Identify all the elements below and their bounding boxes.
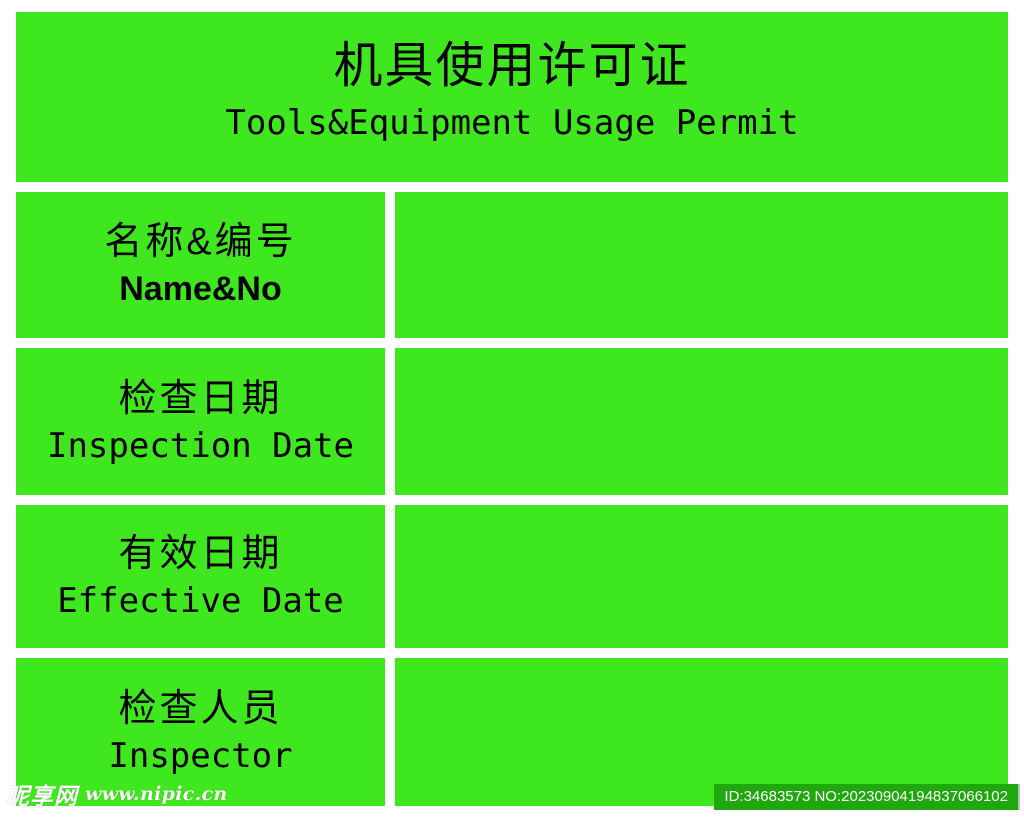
table-row: 名称&编号 Name&No	[16, 192, 1008, 338]
field-value-effective-date[interactable]	[395, 505, 1008, 648]
field-label-chinese: 有效日期	[118, 531, 282, 577]
watermark: 昵享网 www.nipic.cn	[6, 777, 227, 811]
page-title-english: Tools&Equipment Usage Permit	[225, 100, 798, 146]
field-label-chinese: 检查人员	[118, 686, 282, 732]
watermark-logo-text: 昵享网	[6, 777, 78, 811]
permit-card-page: 机具使用许可证 Tools&Equipment Usage Permit 名称&…	[0, 0, 1024, 819]
field-label-chinese: 名称&编号	[104, 219, 296, 265]
id-badge: ID:34683573 NO:20230904194837066102	[714, 784, 1020, 810]
field-label-inspection-date: 检查日期 Inspection Date	[16, 348, 385, 495]
permit-header-banner: 机具使用许可证 Tools&Equipment Usage Permit	[16, 12, 1008, 182]
field-label-english: Inspection Date	[47, 424, 354, 468]
field-label-effective-date: 有效日期 Effective Date	[16, 505, 385, 648]
table-row: 有效日期 Effective Date	[16, 505, 1008, 648]
field-label-english: Effective Date	[57, 579, 344, 623]
table-row: 检查日期 Inspection Date	[16, 348, 1008, 495]
field-label-english: Name&No	[119, 267, 281, 311]
field-label-english: Inspector	[108, 734, 292, 778]
field-value-inspection-date[interactable]	[395, 348, 1008, 495]
watermark-url-text: www.nipic.cn	[85, 783, 227, 805]
field-label-chinese: 检查日期	[118, 376, 282, 422]
field-value-name-no[interactable]	[395, 192, 1008, 338]
page-title-chinese: 机具使用许可证	[333, 38, 690, 94]
field-label-name-no: 名称&编号 Name&No	[16, 192, 385, 338]
